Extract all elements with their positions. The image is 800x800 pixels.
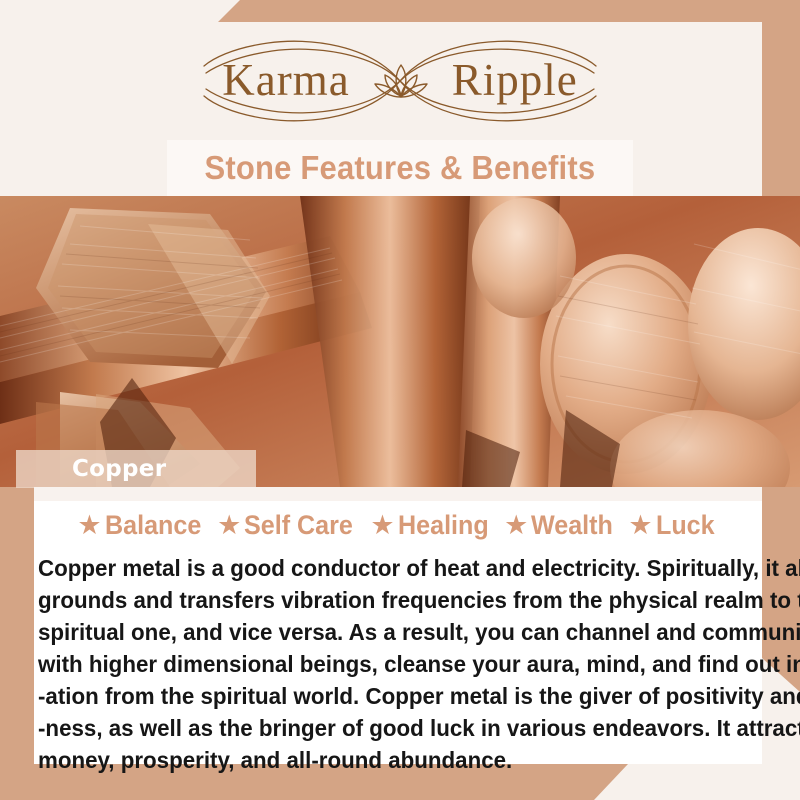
copper-bars-photo (0, 196, 800, 487)
brand-name-right: Ripple (452, 58, 578, 103)
benefit-label: Wealth (531, 510, 613, 541)
benefit-label: Luck (656, 510, 715, 541)
photo-caption-label: Copper (72, 456, 166, 482)
description-line: with higher dimensional beings, cleanse … (38, 648, 726, 680)
benefit-item: ★ Luck (628, 510, 718, 541)
benefit-label: Self Care (244, 510, 353, 541)
description-paragraph: Copper metal is a good conductor of heat… (38, 552, 762, 776)
star-icon: ★ (77, 512, 101, 539)
benefits-list: ★ Balance ★ Self Care ★ Healing ★ Wealth… (34, 510, 762, 541)
description-line: money, prosperity, and all-round abundan… (38, 744, 726, 776)
star-icon: ★ (504, 512, 528, 539)
title-banner: Stone Features & Benefits (167, 140, 633, 196)
content-panel: ★ Balance ★ Self Care ★ Healing ★ Wealth… (34, 487, 762, 764)
description-line: -ation from the spiritual world. Copper … (38, 680, 726, 712)
benefit-label: Healing (398, 510, 489, 541)
benefit-item: ★ Healing (370, 510, 504, 541)
star-icon: ★ (217, 512, 241, 539)
benefit-item: ★ Wealth (504, 510, 628, 541)
description-line: -ness, as well as the bringer of good lu… (38, 712, 726, 744)
brand-name-left: Karma (222, 58, 349, 103)
frame-band-top (218, 0, 800, 22)
description-line: spiritual one, and vice versa. As a resu… (38, 616, 726, 648)
description-line: Copper metal is a good conductor of heat… (38, 552, 726, 584)
benefit-item: ★ Balance (77, 510, 217, 541)
benefit-label: Balance (105, 510, 201, 541)
photo-art (0, 196, 800, 487)
star-icon: ★ (370, 512, 394, 539)
infographic-page: Karma Ripple Stone Features & Benefits (0, 0, 800, 800)
benefit-item: ★ Self Care (217, 510, 370, 541)
photo-caption-bar: Copper (16, 450, 256, 488)
lotus-icon (372, 59, 430, 103)
description-line: grounds and transfers vibration frequenc… (38, 584, 726, 616)
star-icon: ★ (628, 512, 652, 539)
brand-logo: Karma Ripple (0, 28, 800, 133)
page-title: Stone Features & Benefits (205, 149, 596, 187)
